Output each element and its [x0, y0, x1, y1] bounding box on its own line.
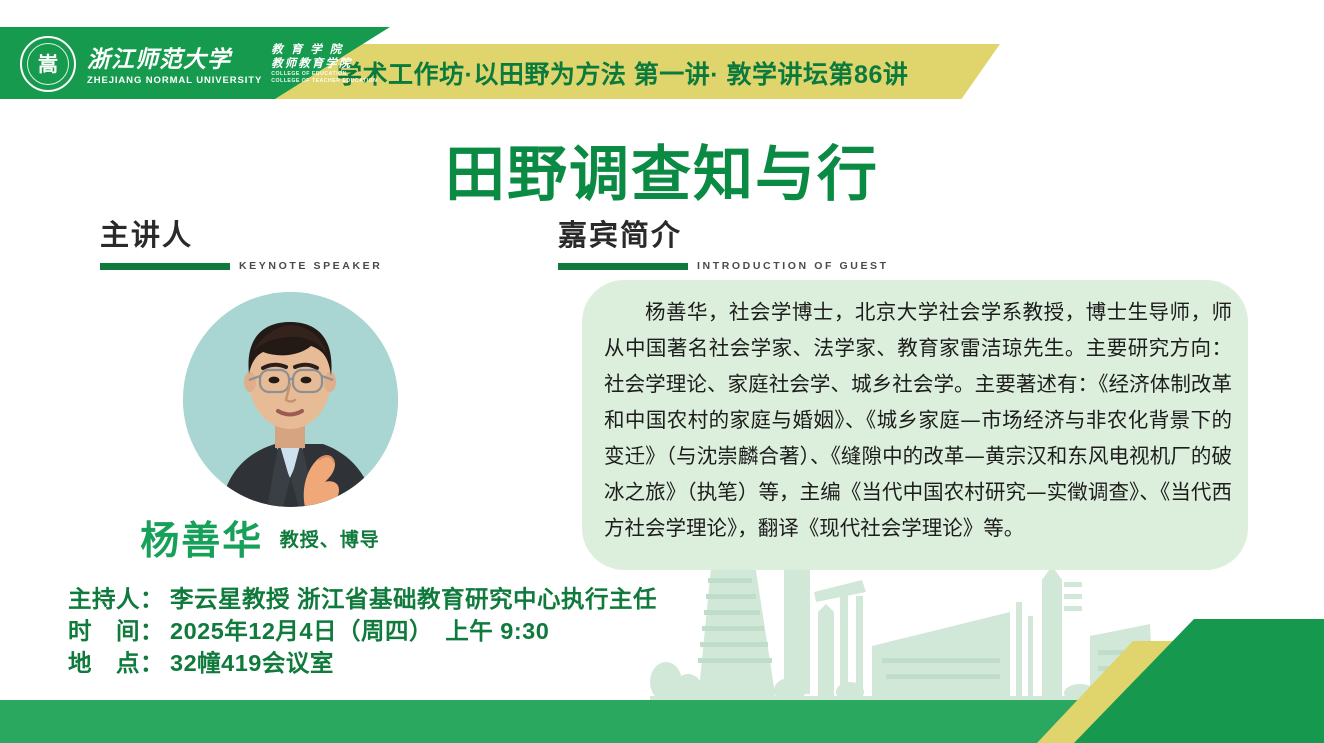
- logo-text-block: 浙江师范大学 ZHEJIANG NORMAL UNIVERSITY 教 育 学 …: [87, 42, 377, 86]
- header-banner-text: 学术工作坊·以田野为方法 第一讲· 敦学讲坛第86讲: [337, 55, 908, 91]
- poster-canvas: 学术工作坊·以田野为方法 第一讲· 敦学讲坛第86讲 嵩 浙江师范大学 ZHEJ…: [0, 0, 1324, 743]
- logo-college-name-en-2: COLLEGE OF TEACHER EDUCATION: [271, 78, 377, 85]
- logo-university-name-cn: 浙江师范大学: [87, 48, 262, 72]
- event-info-row-place: 地 点： 32幢419会议室: [68, 647, 657, 679]
- event-info-row-host: 主持人： 李云星教授 浙江省基础教育研究中心执行主任: [68, 583, 657, 615]
- event-info-row-time: 时 间： 2025年12月4日（周四） 上午 9:30: [68, 615, 657, 647]
- university-seal-icon: 嵩: [20, 36, 76, 92]
- speaker-name: 杨善华: [140, 520, 263, 563]
- event-host-label: 主持人：: [68, 583, 164, 615]
- event-host-value: 李云星教授 浙江省基础教育研究中心执行主任: [170, 583, 657, 615]
- section-rule-bar: [558, 263, 688, 270]
- logo-college-name-cn-2: 教师教育学院: [271, 56, 377, 70]
- event-place-label: 地 点：: [68, 647, 164, 679]
- page-title: 田野调查知与行: [0, 126, 1324, 213]
- speaker-role: 教授、博导: [280, 530, 380, 551]
- logo-college-column: 教 育 学 院 教师教育学院 COLLEGE OF EDUCATION COLL…: [271, 42, 377, 86]
- event-place-value: 32幢419会议室: [170, 647, 334, 679]
- logo-college-name-cn-1: 教 育 学 院: [271, 42, 377, 56]
- university-logo: 嵩 浙江师范大学 ZHEJIANG NORMAL UNIVERSITY 教 育 …: [20, 36, 377, 92]
- logo-college-name-en-1: COLLEGE OF EDUCATION: [271, 71, 377, 78]
- section-heading-guest-rule: INTRODUCTION OF GUEST: [558, 260, 889, 272]
- guest-bio-text: 杨善华，社会学博士，北京大学社会学系教授，博士生导师，师从中国著名社会学家、法学…: [604, 294, 1232, 546]
- seal-glyph: 嵩: [22, 54, 74, 74]
- speaker-portrait: [183, 292, 398, 507]
- event-time-label: 时 间：: [68, 615, 164, 647]
- section-heading-guest-cn: 嘉宾简介: [558, 222, 889, 251]
- section-heading-speaker-rule: KEYNOTE SPEAKER: [100, 260, 382, 272]
- section-heading-speaker-cn: 主讲人: [100, 222, 382, 251]
- section-heading-guest: 嘉宾简介 INTRODUCTION OF GUEST: [558, 222, 889, 272]
- logo-university-name-en: ZHEJIANG NORMAL UNIVERSITY: [87, 75, 262, 86]
- event-info: 主持人： 李云星教授 浙江省基础教育研究中心执行主任 时 间： 2025年12月…: [68, 583, 657, 679]
- event-time-value: 2025年12月4日（周四） 上午 9:30: [170, 615, 549, 647]
- section-heading-speaker: 主讲人 KEYNOTE SPEAKER: [100, 222, 382, 272]
- section-heading-speaker-en: KEYNOTE SPEAKER: [239, 260, 382, 272]
- speaker-name-line: 杨善华 教授、博导: [0, 510, 520, 566]
- section-rule-bar: [100, 263, 230, 270]
- logo-university-column: 浙江师范大学 ZHEJIANG NORMAL UNIVERSITY: [87, 48, 262, 86]
- section-heading-guest-en: INTRODUCTION OF GUEST: [697, 260, 889, 272]
